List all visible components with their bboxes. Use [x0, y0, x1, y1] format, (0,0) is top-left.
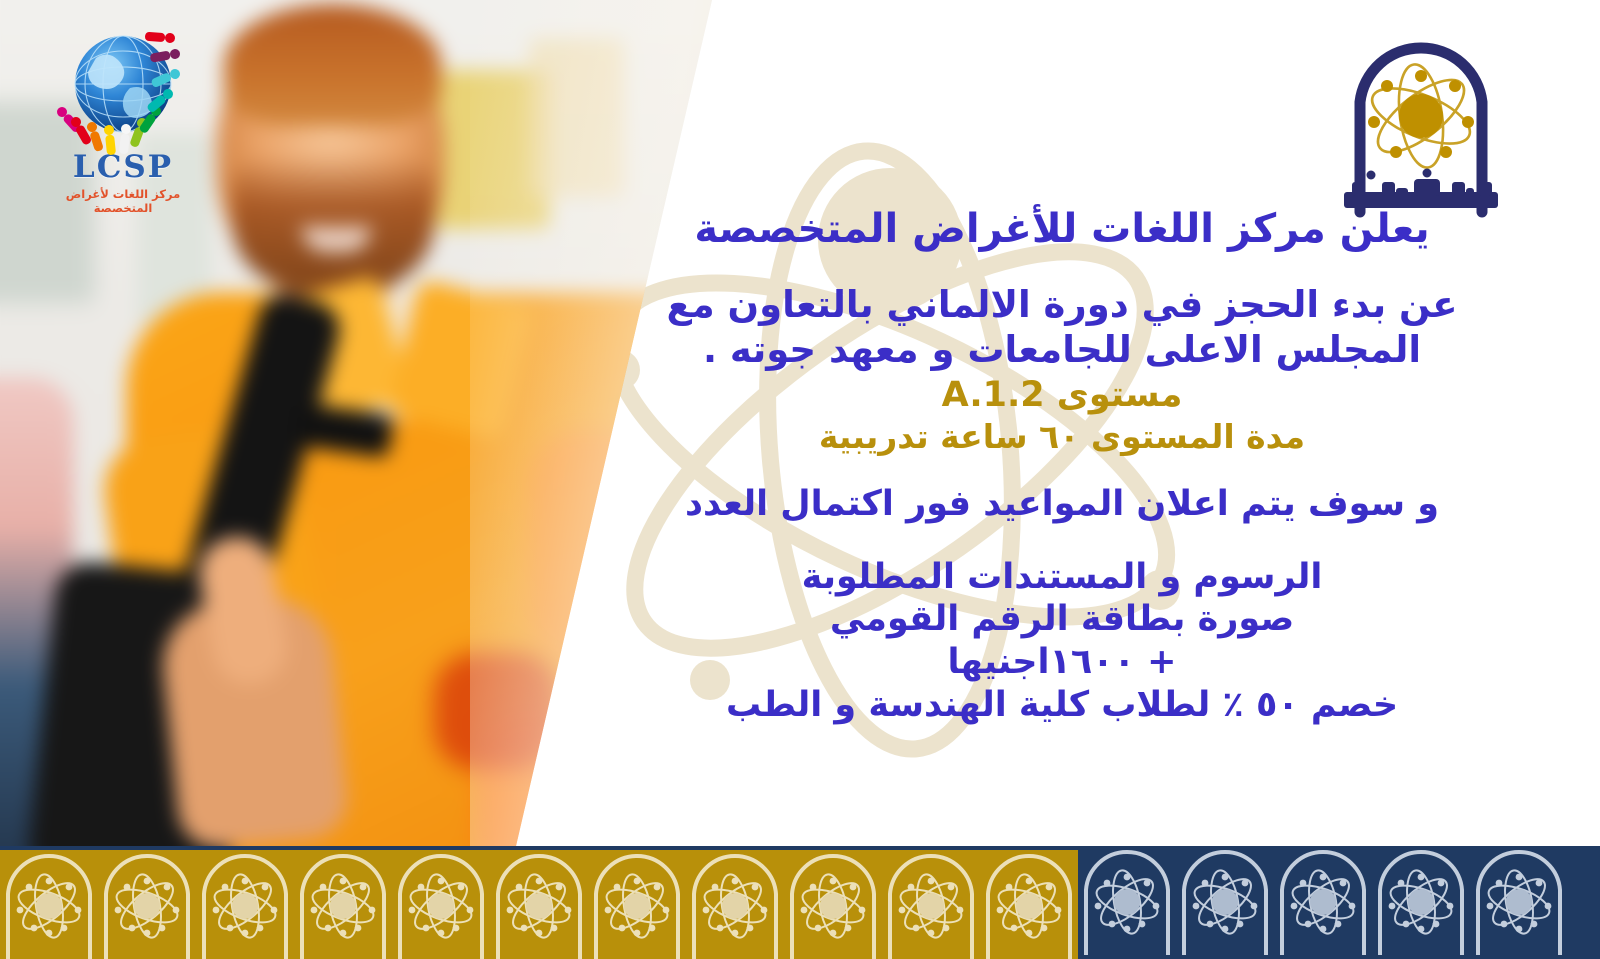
arch-atom-icon — [490, 850, 588, 959]
band-motif-cell — [196, 850, 294, 959]
band-gold-section — [0, 846, 1078, 959]
course-level: مستوى A.1.2 — [612, 374, 1512, 417]
arch-atom-icon — [1470, 846, 1568, 955]
schedule-note: و سوف يتم اعلان المواعيد فور اكتمال العد… — [612, 483, 1512, 526]
arch-atom-icon — [0, 850, 98, 959]
band-motif-cell — [0, 850, 98, 959]
band-motif-cell — [1078, 846, 1176, 955]
course-duration: مدة المستوى ٦٠ ساعة تدريبية — [612, 417, 1512, 457]
announcement-text: يعلن مركز اللغات للأغراض المتخصصة عن بدء… — [612, 205, 1512, 726]
band-motif-cell — [392, 850, 490, 959]
band-motif-cell — [1274, 846, 1372, 955]
fees-heading: الرسوم و المستندات المطلوبة — [612, 556, 1512, 599]
arch-atom-icon — [784, 850, 882, 959]
required-document: صورة بطاقة الرقم القومي — [612, 598, 1512, 641]
arch-atom-icon — [686, 850, 784, 959]
course-price: + ١٦٠٠اجنيها — [612, 641, 1512, 684]
band-motif-cell — [490, 850, 588, 959]
arch-atom-icon — [882, 850, 980, 959]
arch-atom-icon — [392, 850, 490, 959]
poster: LCSP مركز اللغات لأغراض المتخصصة — [0, 0, 1600, 959]
band-navy-section — [1078, 846, 1600, 959]
band-motif-cell — [588, 850, 686, 959]
band-motif-cell — [784, 850, 882, 959]
band-motif-cell — [980, 850, 1078, 959]
lcsp-logo: LCSP مركز اللغات لأغراض المتخصصة — [38, 26, 208, 216]
band-motif-cell — [882, 850, 980, 959]
band-motif-cell — [1372, 846, 1470, 955]
lcsp-subtitle: مركز اللغات لأغراض المتخصصة — [38, 187, 208, 215]
helwan-university-logo — [1330, 42, 1512, 220]
bottom-decorative-band — [0, 846, 1600, 959]
discount-note: خصم ٥٠ ٪ لطلاب كلية الهندسة و الطب — [612, 684, 1512, 727]
announcement-line-1: عن بدء الحجز في دورة الالماني بالتعاون م… — [612, 282, 1512, 327]
band-motif-cell — [294, 850, 392, 959]
arch-atom-icon — [588, 850, 686, 959]
globe-people-icon — [38, 26, 208, 156]
arch-atom-icon — [98, 850, 196, 959]
arch-atom-icon — [1330, 42, 1512, 220]
arch-atom-icon — [980, 850, 1078, 959]
lcsp-acronym: LCSP — [38, 152, 208, 183]
announcement-line-2: المجلس الاعلى للجامعات و معهد جوته . — [612, 327, 1512, 372]
arch-atom-icon — [1176, 846, 1274, 955]
arch-atom-icon — [1078, 846, 1176, 955]
arch-atom-icon — [1372, 846, 1470, 955]
band-motif-cell — [98, 850, 196, 959]
band-motif-cell — [1176, 846, 1274, 955]
arch-atom-icon — [196, 850, 294, 959]
arch-atom-icon — [294, 850, 392, 959]
band-motif-cell — [686, 850, 784, 959]
arch-atom-icon — [1274, 846, 1372, 955]
band-motif-cell — [1470, 846, 1568, 955]
